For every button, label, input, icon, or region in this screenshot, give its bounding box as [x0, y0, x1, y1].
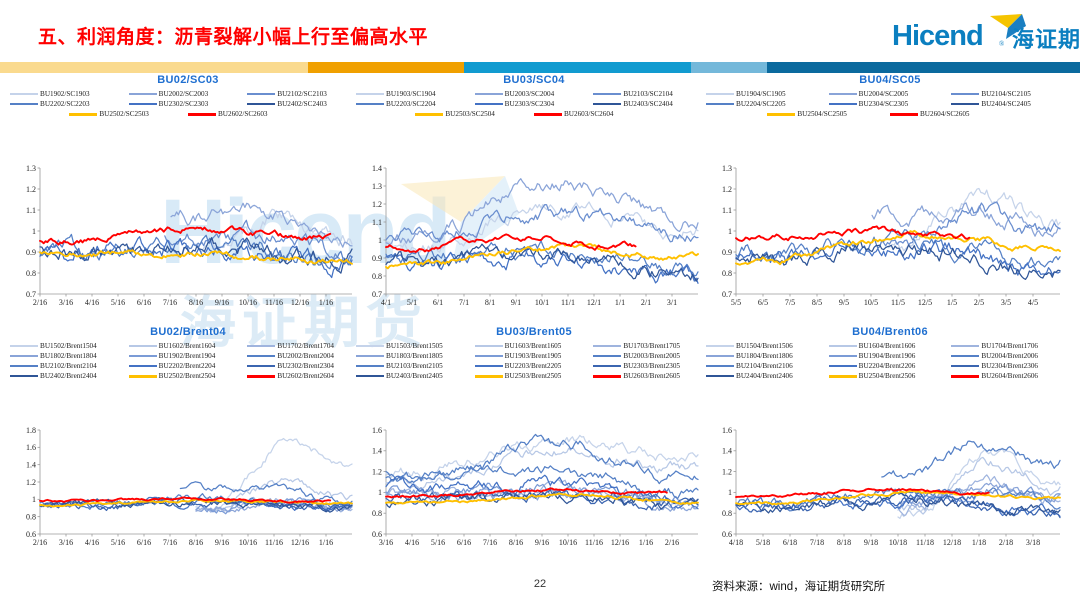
x-tick-label: 8/1	[485, 298, 495, 307]
x-tick-label: 10/16	[239, 298, 257, 307]
legend-item[interactable]: BU2602/SC2603	[188, 110, 307, 118]
x-tick-label: 8/16	[509, 538, 523, 547]
logo-chinese-name: 海证期货	[1012, 22, 1080, 54]
legend-item[interactable]: BU2104/SC2105	[951, 90, 1074, 98]
chart-title-bu02-sc03: BU02/SC03	[10, 74, 366, 86]
legend-swatch-icon	[951, 365, 979, 368]
y-tick-label: 1.6	[372, 426, 382, 435]
y-tick-label: 1.8	[26, 426, 36, 435]
y-tick-label: 1.6	[26, 443, 36, 452]
plot-axes	[40, 168, 352, 294]
legend-label: BU2504/SC2505	[797, 110, 847, 118]
legend-label: BU2003/Brent2005	[623, 352, 680, 360]
x-tick-label: 10/1	[535, 298, 549, 307]
plot-area-bu04-sc05: 0.70.80.911.11.21.35/56/57/58/59/510/511…	[706, 162, 1074, 312]
y-tick-label: 1.1	[26, 206, 36, 215]
legend-swatch-icon	[475, 365, 503, 368]
legend-label: BU2202/Brent2204	[159, 362, 216, 370]
x-tick-label: 11/16	[265, 298, 283, 307]
legend-swatch-icon	[10, 355, 38, 358]
legend-item[interactable]: BU1802/Brent1804	[10, 352, 129, 360]
x-tick-label: 2/5	[974, 298, 984, 307]
legend-label: BU2204/Brent2206	[859, 362, 916, 370]
chart-panel-bu03-brent05: BU03/Brent05BU1503/Brent1505BU1603/Brent…	[356, 326, 712, 552]
legend-label: BU2102/Brent2104	[40, 362, 97, 370]
legend-label: BU1802/Brent1804	[40, 352, 97, 360]
legend-label: BU1703/Brent1705	[623, 342, 680, 350]
legend-item[interactable]: BU2403/Brent2405	[356, 372, 475, 380]
legend-swatch-icon	[593, 355, 621, 358]
legend-swatch-icon	[10, 365, 38, 368]
legend-label: BU2103/Brent2105	[386, 362, 443, 370]
legend-item[interactable]: BU1503/Brent1505	[356, 342, 475, 350]
legend-swatch-icon	[129, 355, 157, 358]
y-tick-label: 1.2	[722, 185, 732, 194]
legend-item[interactable]: BU2504/Brent2506	[829, 372, 952, 380]
legend-item[interactable]: BU2103/SC2104	[593, 90, 712, 98]
series-line	[386, 447, 698, 490]
series-line	[882, 202, 1060, 246]
legend-item[interactable]: BU2003/SC2004	[475, 90, 594, 98]
legend-swatch-icon	[951, 93, 979, 96]
legend-item[interactable]: BU2602/Brent2604	[247, 372, 366, 380]
y-tick-label: 1.3	[372, 182, 382, 191]
legend-swatch-icon	[129, 375, 157, 378]
chart-panel-bu04-sc05: BU04/SC05BU1904/SC1905BU2004/SC2005BU210…	[706, 74, 1074, 312]
y-tick-label: 1	[728, 227, 732, 236]
legend-swatch-icon	[951, 345, 979, 348]
legend-swatch-icon	[10, 345, 38, 348]
x-tick-label: 10/16	[239, 538, 257, 547]
legend-swatch-icon	[475, 355, 503, 358]
y-tick-label: 1.4	[372, 447, 382, 456]
logo-mark: Hicend ® 海证期货	[892, 14, 1070, 54]
legend-swatch-icon	[593, 103, 621, 106]
legend-item[interactable]: BU1602/Brent1604	[129, 342, 248, 350]
x-tick-label: 4/16	[405, 538, 419, 547]
x-tick-label: 4/16	[85, 298, 99, 307]
y-tick-label: 0.8	[26, 269, 36, 278]
legend-swatch-icon	[829, 355, 857, 358]
legend-item[interactable]: BU2603/Brent2605	[593, 372, 712, 380]
legend-swatch-icon	[247, 345, 275, 348]
x-tick-label: 9/18	[864, 538, 878, 547]
legend-item[interactable]: BU2004/SC2005	[829, 90, 952, 98]
y-tick-label: 1.3	[722, 164, 732, 173]
x-tick-label: 2/16	[665, 538, 679, 547]
legend-swatch-icon	[247, 375, 275, 378]
legend-swatch-icon	[129, 365, 157, 368]
legend-label: BU2602/SC2603	[218, 110, 268, 118]
chart-legend-bu03-sc04: BU1903/SC1904BU2003/SC2004BU2103/SC2104B…	[356, 90, 712, 118]
legend-swatch-icon	[706, 355, 734, 358]
legend-item[interactable]: BU1702/Brent1704	[247, 342, 366, 350]
y-tick-label: 1.2	[722, 467, 732, 476]
colorbar-segment-gold	[308, 62, 465, 73]
legend-item[interactable]: BU2303/Brent2305	[593, 362, 712, 370]
x-tick-label: 6/1	[433, 298, 443, 307]
legend-label: BU1503/Brent1505	[386, 342, 443, 350]
legend-label: BU1504/Brent1506	[736, 342, 793, 350]
legend-label: BU1502/Brent1504	[40, 342, 97, 350]
legend-item[interactable]: BU1604/Brent1606	[829, 342, 952, 350]
legend-swatch-icon	[356, 93, 384, 96]
legend-item[interactable]: BU2503/Brent2505	[475, 372, 594, 380]
y-tick-label: 1.2	[26, 478, 36, 487]
legend-swatch-icon	[10, 93, 38, 96]
plot-axes	[736, 430, 1060, 534]
legend-label: BU2302/Brent2304	[277, 362, 334, 370]
series-line	[736, 240, 1060, 275]
x-tick-label: 9/16	[215, 298, 229, 307]
legend-label: BU2604/SC2605	[920, 110, 970, 118]
chart-title-bu03-brent05: BU03/Brent05	[356, 326, 712, 338]
legend-item[interactable]: BU2502/Brent2504	[129, 372, 248, 380]
legend-label: BU1804/Brent1806	[736, 352, 793, 360]
chart-panel-bu04-brent06: BU04/Brent06BU1504/Brent1506BU1604/Brent…	[706, 326, 1074, 552]
x-tick-label: 10/5	[864, 298, 878, 307]
legend-item[interactable]: BU2302/SC2303	[129, 100, 248, 108]
x-tick-label: 12/16	[291, 538, 309, 547]
legend-label: BU2202/SC2203	[40, 100, 90, 108]
legend-item[interactable]: BU1704/Brent1706	[951, 342, 1074, 350]
legend-label: BU2004/Brent2006	[981, 352, 1038, 360]
legend-label: BU2403/Brent2405	[386, 372, 443, 380]
series-line	[736, 491, 1060, 505]
y-tick-label: 0.9	[26, 248, 36, 257]
legend-label: BU2503/SC2504	[445, 110, 495, 118]
legend-label: BU2402/SC2403	[277, 100, 327, 108]
legend-swatch-icon	[356, 345, 384, 348]
legend-swatch-icon	[188, 113, 216, 116]
x-tick-label: 5/18	[756, 538, 770, 547]
series-line	[888, 188, 1060, 250]
legend-swatch-icon	[475, 93, 503, 96]
y-tick-label: 1.1	[372, 218, 382, 227]
slide-header: 五、利润角度：沥青裂解小幅上行至偏高水平 Hicend ® 海证期货	[0, 0, 1080, 70]
legend-swatch-icon	[829, 345, 857, 348]
legend-item[interactable]: BU2303/SC2304	[475, 100, 594, 108]
y-tick-label: 1.4	[722, 447, 732, 456]
chart-title-bu04-sc05: BU04/SC05	[706, 74, 1074, 86]
legend-item[interactable]: BU2104/Brent2106	[706, 362, 829, 370]
y-tick-label: 1.3	[26, 164, 36, 173]
y-tick-label: 1.1	[722, 206, 732, 215]
legend-swatch-icon	[593, 365, 621, 368]
plot-area-bu02-brent04: 0.60.811.21.41.61.82/163/164/165/166/167…	[10, 424, 366, 552]
x-tick-label: 7/16	[163, 298, 177, 307]
legend-item[interactable]: BU2302/Brent2304	[247, 362, 366, 370]
x-tick-label: 11/16	[265, 538, 283, 547]
legend-item[interactable]: BU2103/Brent2105	[356, 362, 475, 370]
legend-item[interactable]: BU2002/SC2003	[129, 90, 248, 98]
legend-swatch-icon	[356, 375, 384, 378]
legend-item[interactable]: BU2304/SC2305	[829, 100, 952, 108]
legend-item[interactable]: BU2203/SC2204	[356, 100, 475, 108]
page-title: 五、利润角度：沥青裂解小幅上行至偏高水平	[38, 22, 428, 49]
x-tick-label: 3/16	[59, 298, 73, 307]
legend-swatch-icon	[356, 103, 384, 106]
x-tick-label: 5/5	[731, 298, 741, 307]
y-tick-label: 0.8	[722, 509, 732, 518]
x-tick-label: 7/16	[483, 538, 497, 547]
legend-label: BU2303/SC2304	[505, 100, 555, 108]
legend-swatch-icon	[829, 103, 857, 106]
x-tick-label: 3/16	[59, 538, 73, 547]
x-tick-label: 8/5	[812, 298, 822, 307]
legend-label: BU2303/Brent2305	[623, 362, 680, 370]
x-tick-label: 7/18	[810, 538, 824, 547]
colorbar-segment-pale-gold	[0, 62, 308, 73]
legend-swatch-icon	[951, 355, 979, 358]
x-tick-label: 12/16	[291, 298, 309, 307]
legend-swatch-icon	[593, 345, 621, 348]
legend-swatch-icon	[890, 113, 918, 116]
y-tick-label: 0.9	[722, 248, 732, 257]
x-tick-label: 1/5	[947, 298, 957, 307]
x-tick-label: 2/16	[33, 538, 47, 547]
x-tick-label: 4/18	[729, 538, 743, 547]
legend-label: BU1704/Brent1706	[981, 342, 1038, 350]
y-tick-label: 0.9	[372, 254, 382, 263]
legend-swatch-icon	[247, 93, 275, 96]
x-tick-label: 3/16	[379, 538, 393, 547]
legend-item[interactable]: BU1803/Brent1805	[356, 352, 475, 360]
chart-legend-bu04-sc05: BU1904/SC1905BU2004/SC2005BU2104/SC2105B…	[706, 90, 1074, 118]
legend-label: BU2002/Brent2004	[277, 352, 334, 360]
plot-area-bu02-sc03: 0.70.80.911.11.21.32/163/164/165/166/167…	[10, 162, 366, 312]
legend-label: BU2203/SC2204	[386, 100, 436, 108]
x-tick-label: 6/16	[137, 298, 151, 307]
x-tick-label: 7/16	[163, 538, 177, 547]
legend-item[interactable]: BU2603/SC2604	[534, 110, 653, 118]
plot-area-bu03-sc04: 0.70.80.911.11.21.31.44/15/16/17/18/19/1…	[356, 162, 712, 312]
x-tick-label: 9/16	[215, 538, 229, 547]
legend-label: BU2404/SC2405	[981, 100, 1031, 108]
legend-label: BU2204/SC2205	[736, 100, 786, 108]
x-tick-label: 3/1	[667, 298, 677, 307]
legend-label: BU2602/Brent2604	[277, 372, 334, 380]
y-tick-label: 1	[378, 488, 382, 497]
x-tick-label: 12/5	[918, 298, 932, 307]
x-tick-label: 5/16	[111, 538, 125, 547]
y-tick-label: 1	[728, 488, 732, 497]
legend-item[interactable]: BU2604/SC2605	[890, 110, 1013, 118]
legend-label: BU2002/SC2003	[159, 90, 209, 98]
chart-panel-bu03-sc04: BU03/SC04BU1903/SC1904BU2003/SC2004BU210…	[356, 74, 712, 312]
colorbar-segment-deep-blue	[767, 62, 1080, 73]
legend-item[interactable]: BU2604/Brent2606	[951, 372, 1074, 380]
legend-swatch-icon	[951, 103, 979, 106]
legend-label: BU1602/Brent1604	[159, 342, 216, 350]
x-tick-label: 1/16	[639, 538, 653, 547]
company-logo: Hicend ® 海证期货	[892, 14, 1070, 54]
y-tick-label: 1.2	[372, 200, 382, 209]
x-tick-label: 5/16	[111, 298, 125, 307]
legend-item[interactable]: BU1904/Brent1906	[829, 352, 952, 360]
x-tick-label: 5/16	[431, 538, 445, 547]
legend-item[interactable]: BU2403/SC2404	[593, 100, 712, 108]
x-tick-label: 3/5	[1001, 298, 1011, 307]
legend-swatch-icon	[475, 103, 503, 106]
chart-panel-bu02-sc03: BU02/SC03BU1902/SC1903BU2002/SC2003BU210…	[10, 74, 366, 312]
colorbar-segment-cyan-blue	[464, 62, 691, 73]
legend-swatch-icon	[534, 113, 562, 116]
x-tick-label: 9/5	[839, 298, 849, 307]
x-tick-label: 6/16	[457, 538, 471, 547]
legend-swatch-icon	[356, 365, 384, 368]
legend-item[interactable]: BU1504/Brent1506	[706, 342, 829, 350]
legend-item[interactable]: BU2102/Brent2104	[10, 362, 129, 370]
legend-swatch-icon	[829, 365, 857, 368]
legend-label: BU1902/SC1903	[40, 90, 90, 98]
x-tick-label: 9/16	[535, 538, 549, 547]
legend-label: BU2302/SC2303	[159, 100, 209, 108]
chart-grid: BU02/SC03BU1902/SC1903BU2002/SC2003BU210…	[0, 74, 1080, 574]
legend-label: BU1904/SC1905	[736, 90, 786, 98]
legend-item[interactable]: BU2204/Brent2206	[829, 362, 952, 370]
chart-legend-bu02-brent04: BU1502/Brent1504BU1602/Brent1604BU1702/B…	[10, 342, 366, 380]
legend-label: BU2203/Brent2205	[505, 362, 562, 370]
legend-swatch-icon	[129, 93, 157, 96]
legend-item[interactable]: BU2304/Brent2306	[951, 362, 1074, 370]
legend-item[interactable]: BU1902/Brent1904	[129, 352, 248, 360]
legend-item[interactable]: BU1603/Brent1605	[475, 342, 594, 350]
legend-label: BU2502/Brent2504	[159, 372, 216, 380]
legend-item[interactable]: BU2102/SC2103	[247, 90, 366, 98]
legend-label: BU2404/Brent2406	[736, 372, 793, 380]
legend-label: BU1902/Brent1904	[159, 352, 216, 360]
plot-area-bu03-brent05: 0.60.811.21.41.63/164/165/166/167/168/16…	[356, 424, 712, 552]
legend-item[interactable]: BU1904/SC1905	[706, 90, 829, 98]
x-tick-label: 6/18	[783, 538, 797, 547]
legend-label: BU2104/Brent2106	[736, 362, 793, 370]
series-line	[386, 434, 698, 483]
x-tick-label: 6/16	[137, 538, 151, 547]
y-tick-label: 1	[32, 495, 36, 504]
legend-item[interactable]: BU1902/SC1903	[10, 90, 129, 98]
legend-item[interactable]: BU2204/SC2205	[706, 100, 829, 108]
y-tick-label: 1	[32, 227, 36, 236]
x-tick-label: 12/1	[587, 298, 601, 307]
x-tick-label: 1/16	[319, 298, 333, 307]
x-tick-label: 11/18	[916, 538, 934, 547]
x-tick-label: 12/16	[611, 538, 629, 547]
x-tick-label: 5/1	[407, 298, 417, 307]
page-number: 22	[515, 578, 565, 590]
series-line	[872, 203, 1060, 237]
legend-swatch-icon	[706, 103, 734, 106]
legend-label: BU2304/Brent2306	[981, 362, 1038, 370]
legend-swatch-icon	[593, 375, 621, 378]
x-tick-label: 4/5	[1028, 298, 1038, 307]
legend-item[interactable]: BU1804/Brent1806	[706, 352, 829, 360]
y-tick-label: 0.8	[722, 269, 732, 278]
legend-item[interactable]: BU2004/Brent2006	[951, 352, 1074, 360]
legend-swatch-icon	[247, 365, 275, 368]
legend-item[interactable]: BU2003/Brent2005	[593, 352, 712, 360]
chart-legend-bu02-sc03: BU1902/SC1903BU2002/SC2003BU2102/SC2103B…	[10, 90, 366, 118]
series-line	[165, 220, 352, 263]
x-tick-label: 2/1	[641, 298, 651, 307]
legend-label: BU2503/Brent2505	[505, 372, 562, 380]
y-tick-label: 1.4	[26, 460, 36, 469]
x-tick-label: 6/5	[758, 298, 768, 307]
x-tick-label: 9/1	[511, 298, 521, 307]
brand-colorbar	[0, 62, 1080, 73]
legend-swatch-icon	[10, 103, 38, 106]
legend-swatch-icon	[247, 103, 275, 106]
x-tick-label: 8/18	[837, 538, 851, 547]
x-tick-label: 2/16	[33, 298, 47, 307]
x-tick-label: 1/18	[972, 538, 986, 547]
y-tick-label: 0.8	[372, 509, 382, 518]
chart-legend-bu03-brent05: BU1503/Brent1505BU1603/Brent1605BU1703/B…	[356, 342, 712, 380]
legend-item[interactable]: BU2002/Brent2004	[247, 352, 366, 360]
legend-swatch-icon	[767, 113, 795, 116]
x-tick-label: 1/16	[319, 538, 333, 547]
legend-label: BU2603/SC2604	[564, 110, 614, 118]
y-tick-label: 0.8	[372, 272, 382, 281]
legend-item[interactable]: BU1502/Brent1504	[10, 342, 129, 350]
legend-item[interactable]: BU2402/Brent2404	[10, 372, 129, 380]
legend-item[interactable]: BU2202/Brent2204	[129, 362, 248, 370]
legend-item[interactable]: BU2504/SC2505	[767, 110, 890, 118]
legend-item[interactable]: BU2203/Brent2205	[475, 362, 594, 370]
legend-label: BU2102/SC2103	[277, 90, 327, 98]
legend-item[interactable]: BU1703/Brent1705	[593, 342, 712, 350]
chart-title-bu03-sc04: BU03/SC04	[356, 74, 712, 86]
y-tick-label: 1.2	[372, 467, 382, 476]
legend-swatch-icon	[593, 93, 621, 96]
legend-item[interactable]: BU1903/Brent1905	[475, 352, 594, 360]
x-tick-label: 4/1	[381, 298, 391, 307]
x-tick-label: 11/5	[891, 298, 905, 307]
legend-label: BU1604/Brent1606	[859, 342, 916, 350]
legend-swatch-icon	[706, 93, 734, 96]
legend-item[interactable]: BU2404/Brent2406	[706, 372, 829, 380]
x-tick-label: 12/18	[943, 538, 961, 547]
legend-label: BU1803/Brent1805	[386, 352, 443, 360]
x-tick-label: 11/1	[561, 298, 575, 307]
legend-swatch-icon	[829, 93, 857, 96]
legend-item[interactable]: BU2402/SC2403	[247, 100, 366, 108]
logo-wordmark: Hicend	[892, 20, 983, 53]
legend-item[interactable]: BU2502/SC2503	[69, 110, 188, 118]
legend-item[interactable]: BU1903/SC1904	[356, 90, 475, 98]
x-tick-label: 10/18	[889, 538, 907, 547]
legend-swatch-icon	[356, 355, 384, 358]
x-tick-label: 8/16	[189, 298, 203, 307]
legend-label: BU1903/SC1904	[386, 90, 436, 98]
legend-swatch-icon	[951, 375, 979, 378]
legend-label: BU2504/Brent2506	[859, 372, 916, 380]
legend-swatch-icon	[475, 375, 503, 378]
x-tick-label: 10/16	[559, 538, 577, 547]
chart-panel-bu02-brent04: BU02/Brent04BU1502/Brent1504BU1602/Brent…	[10, 326, 366, 552]
chart-title-bu02-brent04: BU02/Brent04	[10, 326, 366, 338]
legend-item[interactable]: BU2202/SC2203	[10, 100, 129, 108]
y-tick-label: 1.2	[26, 185, 36, 194]
legend-swatch-icon	[129, 103, 157, 106]
legend-swatch-icon	[247, 355, 275, 358]
legend-item[interactable]: BU2503/SC2504	[415, 110, 534, 118]
legend-item[interactable]: BU2404/SC2405	[951, 100, 1074, 108]
legend-swatch-icon	[10, 375, 38, 378]
y-tick-label: 1	[378, 236, 382, 245]
legend-label: BU1603/Brent1605	[505, 342, 562, 350]
chart-legend-bu04-brent06: BU1504/Brent1506BU1604/Brent1606BU1704/B…	[706, 342, 1074, 380]
